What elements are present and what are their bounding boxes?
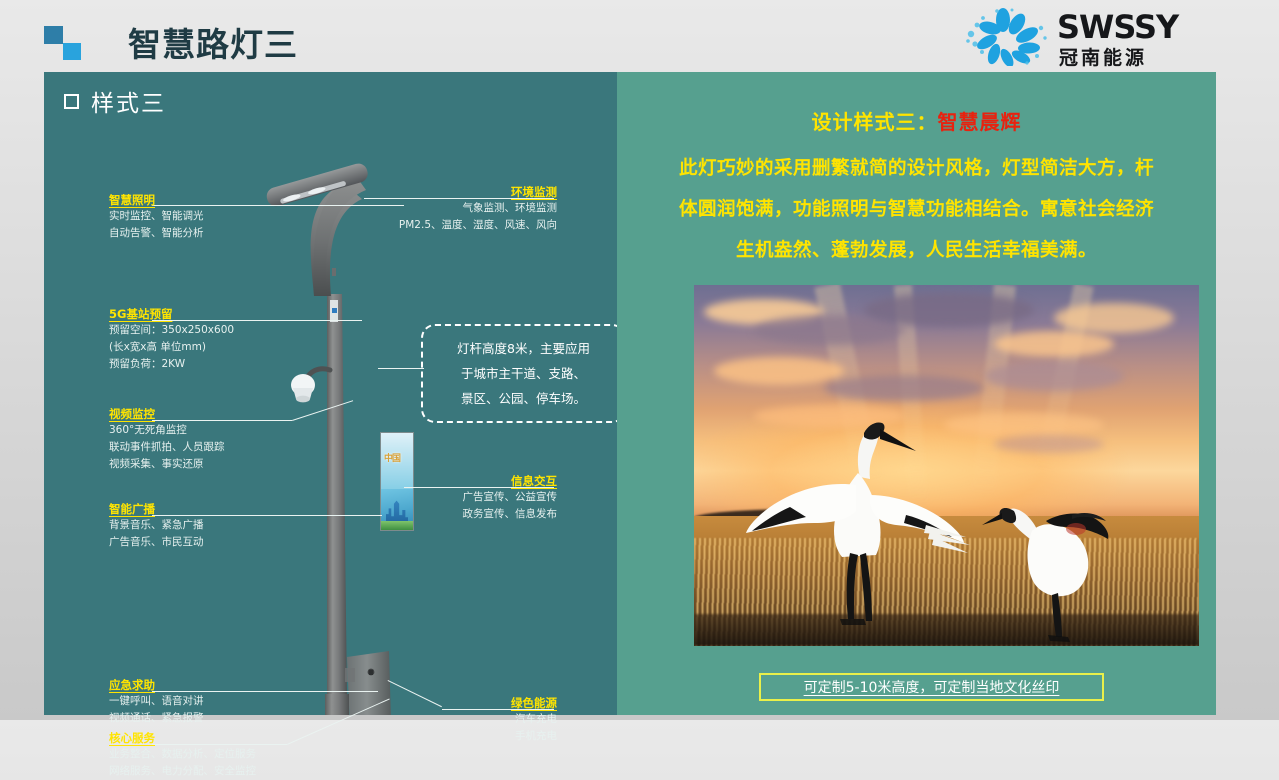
- logo-square-dark-icon: [44, 26, 63, 44]
- photo-cloud: [984, 361, 1124, 391]
- crane-sunset-photo: [694, 285, 1199, 646]
- annotation-information-interaction: 信息交互 广告宣传、公益宣传 政务宣传、信息发布: [364, 473, 557, 523]
- leader-line-video-d: [292, 400, 353, 421]
- crane-spread-wings: [730, 403, 990, 638]
- annotation-5g-base-station: 5G基站预留 预留空间：350x250x600 (长x宽x高 单位mm) 预留负…: [109, 306, 234, 373]
- height-application-callout: 灯杆高度8米，主要应用 于城市主干道、支路、 景区、公园、停车场。: [421, 324, 626, 423]
- annotation-line: 360°无死角监控: [109, 422, 225, 439]
- callout-line: 于城市主干道、支路、: [461, 361, 586, 386]
- annotation-environment-monitor: 环境监测 气象监测、环境监测 PM2.5、温度、湿度、风速、风向: [344, 184, 557, 234]
- annotation-line: 视频采集、事实还原: [109, 456, 225, 473]
- photo-cloud: [824, 375, 984, 401]
- design-style-title: 设计样式三：智慧晨辉: [617, 106, 1216, 135]
- photo-cloud: [864, 293, 1034, 327]
- annotation-title: 智慧照明: [109, 192, 204, 208]
- right-panel: 设计样式三：智慧晨辉 此灯巧妙的采用删繁就简的设计风格，灯型简洁大方，杆 体圆润…: [617, 72, 1216, 715]
- annotation-line: 预留负荷：2KW: [109, 356, 234, 373]
- annotation-smart-broadcast: 智能广播 背景音乐、紧急广播 广告音乐、市民互动: [109, 501, 204, 551]
- annotation-line: 政务宣传、信息发布: [364, 506, 557, 523]
- brand-name: SWSSY: [1057, 8, 1178, 46]
- annotation-line: 联动事件抓拍、人员跟踪: [109, 439, 225, 456]
- annotation-line: 一键呼叫、语音对讲: [109, 693, 204, 710]
- design-description-line: 体圆润饱满，功能照明与智慧功能相结合。寓意社会经济: [631, 189, 1202, 230]
- annotation-title: 信息交互: [364, 473, 557, 489]
- ad-screen-text: 中国: [384, 451, 400, 464]
- design-description-line: 此灯巧妙的采用删繁就简的设计风格，灯型简洁大方，杆: [631, 148, 1202, 189]
- customization-caption-box: 可定制5-10米高度，可定制当地文化丝印: [759, 673, 1104, 701]
- design-title-prefix: 设计样式三：: [812, 110, 938, 134]
- page-header: 智慧路灯三 SWSSY 冠南能: [0, 0, 1279, 72]
- brand-flower-icon: [957, 8, 1049, 66]
- photo-cloud: [994, 331, 1114, 357]
- annotation-core-service: 核心服务 业务整合、数据分析、定位服务 网络服务、电力分配、安全监控: [109, 730, 256, 780]
- annotation-title: 绿色能源: [374, 695, 557, 711]
- annotation-line: 背景音乐、紧急广播: [109, 517, 204, 534]
- annotation-line: 预留空间：350x250x600: [109, 322, 234, 339]
- style-heading-label: 样式三: [91, 84, 166, 118]
- callout-line: 景区、公园、停车场。: [461, 386, 586, 411]
- brand-subtitle: 冠南能源: [1059, 43, 1147, 70]
- annotation-green-energy: 绿色能源 汽车充电 手机充电: [374, 695, 557, 745]
- design-description-line: 生机盎然、蓬勃发展，人民生活幸福美满。: [631, 230, 1202, 271]
- brand-block: SWSSY 冠南能源: [957, 6, 1217, 68]
- annotation-line: PM2.5、温度、湿度、风速、风向: [344, 217, 557, 234]
- customization-caption: 可定制5-10米高度，可定制当地文化丝印: [804, 677, 1060, 697]
- logo-squares-icon: [44, 26, 86, 60]
- annotation-title: 核心服务: [109, 730, 256, 746]
- annotation-title: 5G基站预留: [109, 306, 234, 322]
- design-title-accent: 智慧晨辉: [938, 110, 1022, 134]
- logo-square-light-icon: [63, 43, 81, 60]
- annotation-line: (长x宽x高 单位mm): [109, 339, 234, 356]
- square-bullet-icon: [64, 94, 79, 109]
- annotation-title: 视频监控: [109, 406, 225, 422]
- annotation-line: 广告宣传、公益宣传: [364, 489, 557, 506]
- annotation-line: 自动告警、智能分析: [109, 225, 204, 242]
- annotation-title: 环境监测: [344, 184, 557, 200]
- annotation-video-surveillance: 视频监控 360°无死角监控 联动事件抓拍、人员跟踪 视频采集、事实还原: [109, 406, 225, 473]
- annotation-line: 业务整合、数据分析、定位服务: [109, 746, 256, 763]
- annotation-line: 实时监控、智能调光: [109, 208, 204, 225]
- annotation-line: 广告音乐、市民互动: [109, 534, 204, 551]
- page-title: 智慧路灯三: [128, 18, 298, 66]
- photo-cloud: [1054, 303, 1174, 333]
- style-heading: 样式三: [64, 84, 166, 118]
- annotation-line: 气象监测、环境监测: [344, 200, 557, 217]
- annotation-title: 智能广播: [109, 501, 204, 517]
- leader-line-callout: [378, 368, 424, 369]
- callout-line: 灯杆高度8米，主要应用: [457, 336, 590, 361]
- annotation-smart-lighting: 智慧照明 实时监控、智能调光 自动告警、智能分析: [109, 192, 204, 242]
- annotation-line: 手机充电: [374, 728, 557, 745]
- left-panel: 样式三: [44, 72, 617, 715]
- crane-bowing: [980, 475, 1120, 645]
- design-description: 此灯巧妙的采用删繁就简的设计风格，灯型简洁大方，杆 体圆润饱满，功能照明与智慧功…: [631, 148, 1202, 271]
- photo-cloud: [994, 435, 1104, 453]
- annotation-line: 视频通话、紧急报警: [109, 710, 204, 727]
- photo-cloud: [714, 357, 844, 385]
- annotation-line: 网络服务、电力分配、安全监控: [109, 763, 256, 780]
- annotation-title: 应急求助: [109, 677, 204, 693]
